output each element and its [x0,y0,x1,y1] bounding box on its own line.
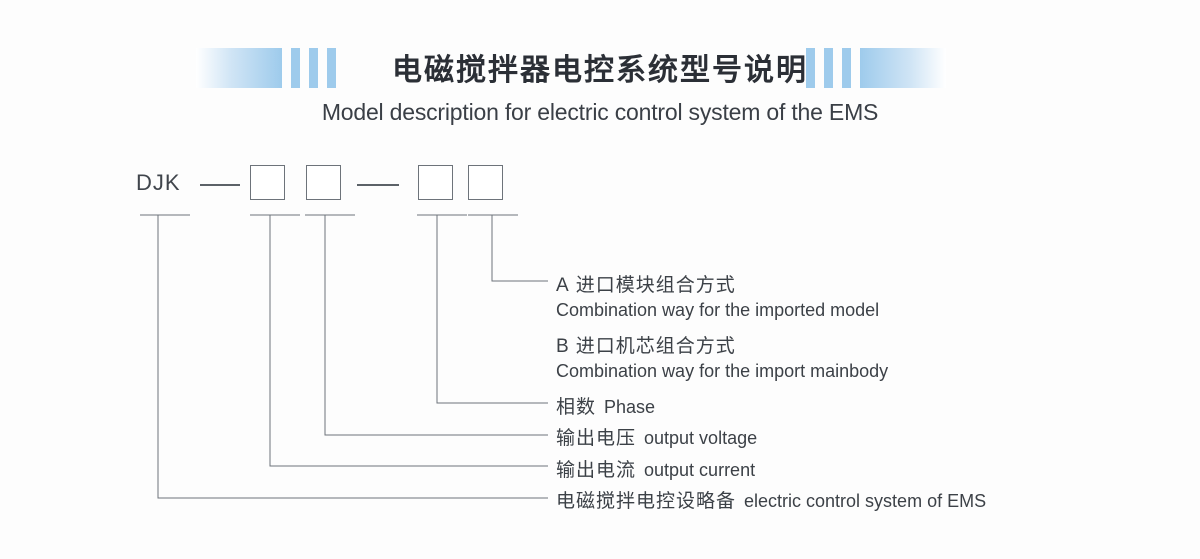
legend-label-current-cn: 输出电流 [556,459,636,481]
legend-item-b-english: Combination way for the import mainbody [556,361,888,382]
legend-label-ems-cn: 电磁搅拌电控设略备 [556,490,736,512]
legend-label-phase-en: Phase [604,397,655,417]
model-code-box-3[interactable] [418,165,453,200]
legend-item-ems: 电磁搅拌电控设略备electric control system of EMS [556,486,986,513]
legend-item-a: A进口模块组合方式 [556,270,736,297]
legend-label-b-en: Combination way for the import mainbody [556,361,888,381]
legend-item-phase: 相数Phase [556,392,655,419]
leader-path-ems [158,215,548,498]
model-description-diagram: 电磁搅拌器电控系统型号说明 Model description for elec… [0,0,1200,559]
leader-path-output-voltage [325,215,548,435]
model-separator-dash [357,184,399,186]
legend-label-voltage-en: output voltage [644,428,757,448]
model-prefix-djk: DJK [136,170,181,196]
legend-label-phase-cn: 相数 [556,396,596,418]
legend-label-b-cn: 进口机芯组合方式 [576,335,736,357]
legend-label-voltage-cn: 输出电压 [556,427,636,449]
leader-path-phase [437,215,548,403]
leader-path-imported-module [492,215,548,281]
legend-item-output-current: 输出电流output current [556,455,755,482]
model-code-box-4[interactable] [468,165,503,200]
legend-label-ems-en: electric control system of EMS [744,491,986,511]
legend-item-b: B进口机芯组合方式 [556,331,736,358]
legend-label-current-en: output current [644,460,755,480]
page-title-chinese: 电磁搅拌器电控系统型号说明 [0,45,1200,89]
legend-tag-a: A [556,275,569,296]
legend-label-a-cn: 进口模块组合方式 [576,274,736,296]
leader-path-output-current [270,215,548,466]
legend-item-output-voltage: 输出电压output voltage [556,423,757,450]
legend-label-a-en: Combination way for the imported model [556,300,879,320]
legend-tag-b: B [556,336,569,357]
model-code-box-2[interactable] [306,165,341,200]
page-subtitle-english: Model description for electric control s… [0,99,1200,126]
model-separator-dash [200,184,240,186]
header: 电磁搅拌器电控系统型号说明 Model description for elec… [0,0,1200,140]
legend-item-a-english: Combination way for the imported model [556,300,879,321]
model-code-box-1[interactable] [250,165,285,200]
